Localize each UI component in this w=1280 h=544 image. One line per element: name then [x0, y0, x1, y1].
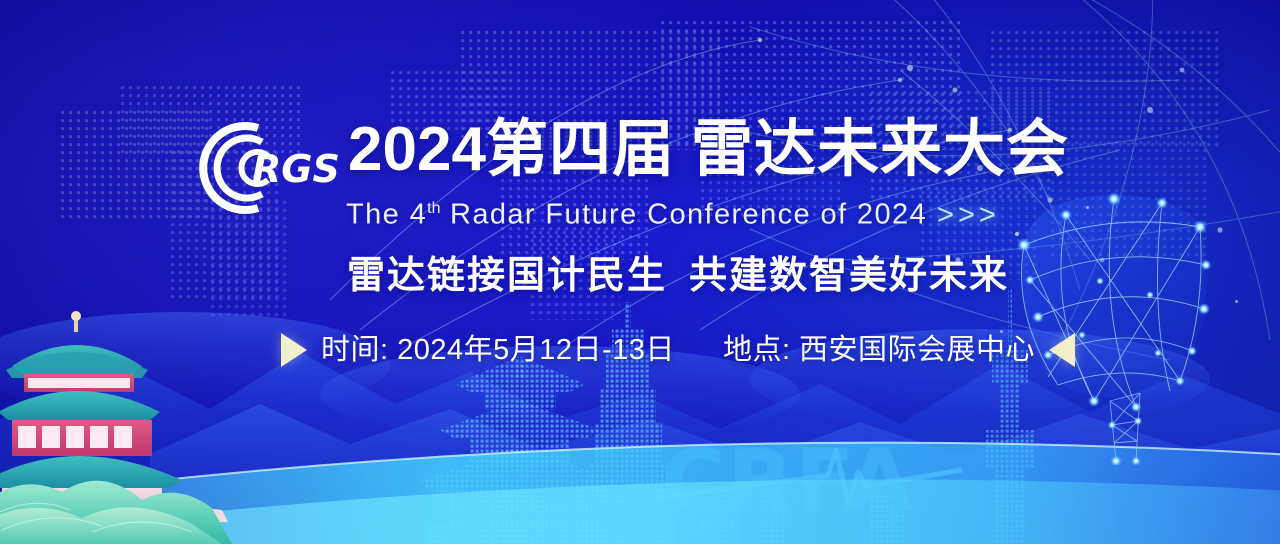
triangle-right-icon: [281, 333, 307, 367]
subtitle-ordinal: th: [427, 200, 440, 217]
rgs-radar-logo: RGS: [196, 118, 342, 218]
slogan-part-1: 雷达链接国计民生: [347, 255, 667, 297]
triangle-left-icon: [1049, 333, 1075, 367]
title-subtitle-english: The 4th Radar Future Conference of 2024>…: [346, 192, 1000, 232]
event-info-line: 时间: 2024年5月12日-13日 地点: 西安国际会展中心: [281, 330, 1075, 370]
event-date: 时间: 2024年5月12日-13日: [321, 330, 675, 370]
page-title: 2024第四届雷达未来大会: [348, 118, 1069, 182]
subtitle-prefix: The 4: [346, 199, 427, 231]
banner-content: RGS 2024第四届雷达未来大会 The 4th Radar Future C…: [0, 0, 1280, 544]
title-year: 2024: [348, 115, 486, 184]
chevron-right-icon: >>>: [937, 199, 1000, 231]
subtitle-rest: Radar Future Conference of 2024: [450, 199, 927, 231]
title-edition: 第四届: [486, 115, 675, 184]
conference-banner: CRFA: [0, 0, 1280, 544]
conference-slogan: 雷达链接国计民生共建数智美好未来: [347, 253, 1009, 299]
slogan-part-2: 共建数智美好未来: [689, 255, 1009, 297]
title-name: 雷达未来大会: [691, 115, 1069, 184]
rgs-logo-text: RGS: [252, 147, 340, 191]
event-venue: 地点: 西安国际会展中心: [723, 330, 1035, 370]
